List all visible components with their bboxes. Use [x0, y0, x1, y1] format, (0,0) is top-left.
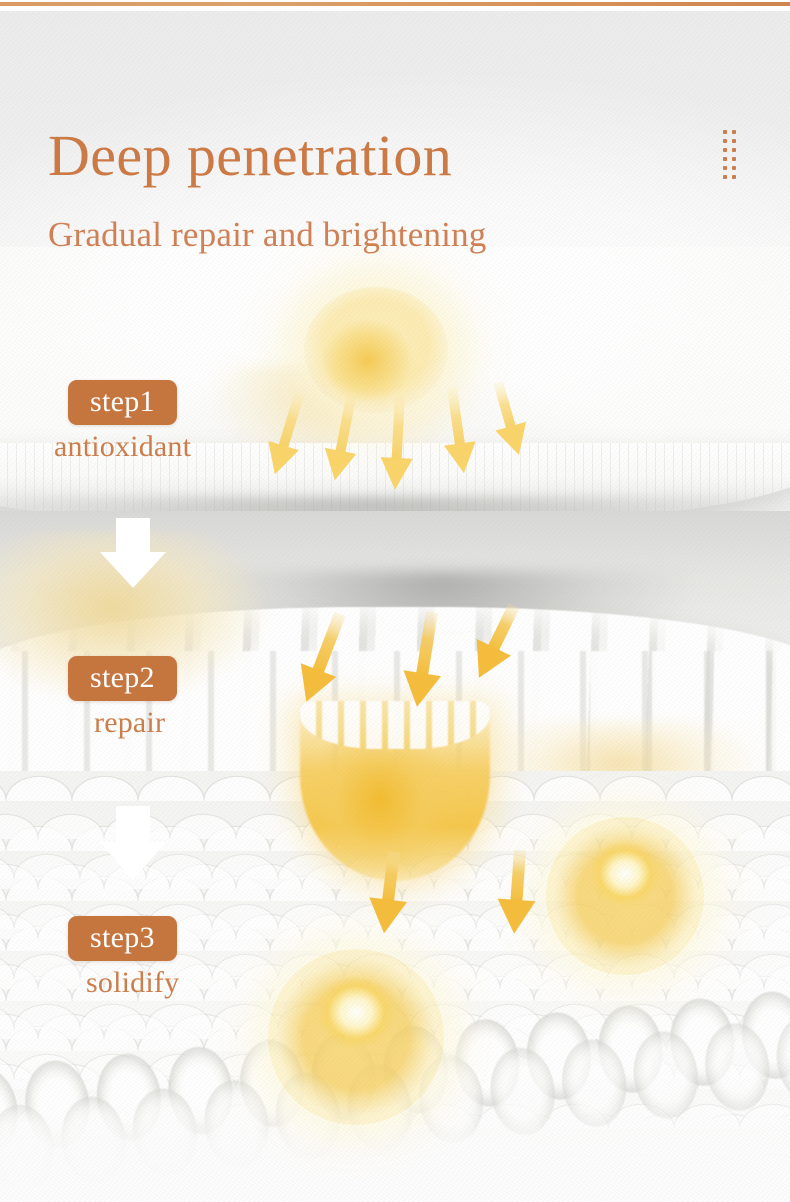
step-1-label: antioxidant — [50, 430, 191, 465]
amber-arrow-5 — [495, 849, 539, 935]
dot — [721, 146, 730, 155]
page-title: Deep penetration — [48, 126, 452, 187]
yellow-arrow-3 — [379, 393, 416, 491]
amber-arrow-2 — [398, 609, 451, 710]
step-3-badge: step3 — [68, 916, 177, 961]
dot — [721, 128, 730, 137]
top-accent-rule — [0, 2, 790, 6]
amber-arrow-group-step3 — [365, 849, 539, 936]
dot — [730, 128, 739, 137]
white-arrow-step2-to-step3 — [100, 806, 166, 880]
yellow-arrow-5 — [483, 378, 535, 460]
yellow-arrow-group-step1 — [260, 378, 535, 491]
amber-arrow-3 — [462, 598, 531, 687]
amber-arrow-group-step2 — [289, 598, 532, 710]
amber-arrow-4 — [365, 850, 413, 936]
step-3-block: step3 solidify — [68, 916, 179, 1001]
dot — [730, 173, 739, 182]
dot — [730, 137, 739, 146]
step-2-label: repair — [90, 706, 177, 741]
dot — [721, 173, 730, 182]
dot — [730, 155, 739, 164]
white-arrow-step1-to-step2 — [100, 518, 166, 588]
step-2-block: step2 repair — [68, 656, 177, 741]
page-subtitle: Gradual repair and brightening — [48, 216, 486, 255]
dot — [721, 137, 730, 146]
step-1-badge: step1 — [68, 380, 177, 425]
yellow-arrow-2 — [319, 389, 368, 483]
dot — [730, 146, 739, 155]
step-1-block: step1 antioxidant — [68, 380, 191, 465]
dot — [721, 164, 730, 173]
amber-arrow-1 — [289, 607, 358, 708]
yellow-arrow-4 — [436, 386, 480, 476]
dot — [721, 155, 730, 164]
infographic-page: Deep penetration Gradual repair and brig… — [0, 0, 790, 1202]
dot — [730, 164, 739, 173]
step-2-badge: step2 — [68, 656, 177, 701]
decorative-dot-grid — [721, 128, 739, 182]
yellow-arrow-1 — [260, 387, 316, 479]
step-3-label: solidify — [82, 966, 179, 1001]
